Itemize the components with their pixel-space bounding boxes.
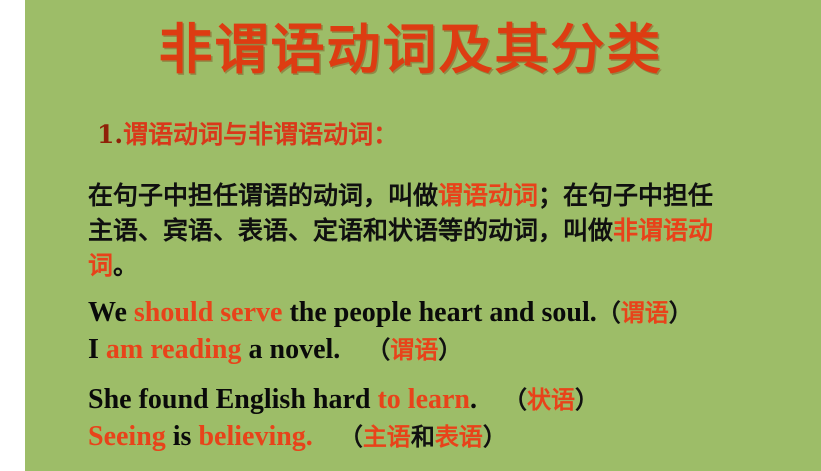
definition-segment-1: 在句子中担任谓语的动词，叫做 (88, 181, 438, 210)
slide-content: 非谓语动词及其分类 1.谓语动词与非谓语动词： 在句子中担任谓语的动词，叫做谓语… (0, 0, 821, 471)
definition-paragraph: 在句子中担任谓语的动词，叫做谓语动词；在句子中担任主语、宾语、表语、定语和状语等… (88, 178, 728, 283)
page-title: 非谓语动词及其分类 (0, 16, 821, 82)
example-1-annotation-open: （ (597, 299, 621, 327)
example-2-annotation-open: （ (366, 336, 390, 364)
example-3-annotation-close: ） (575, 386, 599, 414)
example-4-mid: is (166, 421, 199, 452)
example-1-pre: We (88, 297, 134, 328)
example-1-annotation-text: 谓语 (621, 299, 669, 327)
example-1-annotation-close: ） (669, 299, 693, 327)
example-2-annotation-text: 谓语 (390, 336, 438, 364)
definition-highlight-predicate-verb: 谓语动词 (438, 181, 538, 210)
example-sentence-3: She found English hard to learn.（状语） (88, 383, 599, 417)
example-4-annotation-open: （ (339, 423, 363, 451)
section-heading-text: 谓语动词与非谓语动词： (123, 120, 398, 149)
example-4-highlight-subject: Seeing (88, 421, 166, 452)
example-2-pre: I (88, 334, 106, 365)
definition-segment-3: 。 (113, 251, 138, 280)
section-heading: 1.谓语动词与非谓语动词： (97, 119, 398, 151)
section-number: 1. (97, 120, 123, 149)
example-3-annotation-text: 状语 (527, 386, 575, 414)
example-3-annotation: （状语） (503, 386, 599, 414)
example-1-post: the people heart and soul. (282, 297, 596, 328)
example-sentence-4: Seeing is believing.（主语和表语） (88, 420, 507, 454)
example-4-annotation-text-a: 主语 (363, 423, 411, 451)
example-2-highlight: am reading (106, 334, 242, 365)
example-4-annotation-text-mid: 和 (411, 423, 435, 451)
example-2-post: a novel. (242, 334, 341, 365)
example-2-annotation-close: ） (438, 336, 462, 364)
example-3-post: . (470, 384, 477, 415)
example-sentence-2: I am reading a novel.（谓语） (88, 333, 462, 367)
example-sentence-1: We should serve the people heart and sou… (88, 296, 693, 330)
example-4-annotation-text-b: 表语 (435, 423, 483, 451)
example-4-annotation: （主语和表语） (339, 423, 507, 451)
example-2-annotation: （谓语） (366, 336, 462, 364)
example-1-annotation: （谓语） (597, 299, 693, 327)
example-3-annotation-open: （ (503, 386, 527, 414)
example-3-highlight: to learn (377, 384, 470, 415)
slide-canvas: 非谓语动词及其分类 1.谓语动词与非谓语动词： 在句子中担任谓语的动词，叫做谓语… (0, 0, 821, 471)
example-3-pre: She found English hard (88, 384, 377, 415)
example-4-highlight-predicative: believing. (198, 421, 312, 452)
example-1-highlight: should serve (134, 297, 283, 328)
example-4-annotation-close: ） (483, 423, 507, 451)
